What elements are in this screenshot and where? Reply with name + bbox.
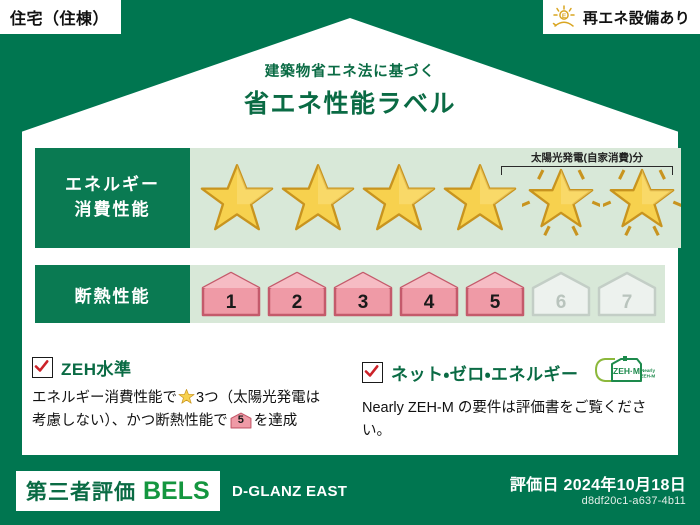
insulation-performance-row: 断熱性能 1 2 3 4 bbox=[35, 265, 665, 323]
zeh-body-part1: エネルギー消費性能で bbox=[32, 390, 177, 406]
energy-consumption-value: 太陽光発電(自家消費)分 bbox=[190, 148, 681, 248]
insulation-level-scale: 1 2 3 4 5 bbox=[190, 271, 658, 317]
checkbox-checked-icon bbox=[32, 357, 53, 378]
title-subtitle: 建築物省エネ法に基づく bbox=[0, 60, 700, 81]
insulation-level-3: 3 bbox=[332, 271, 394, 317]
zeh-m-logo-sub1: Nearly bbox=[641, 368, 655, 373]
star-icon-2 bbox=[279, 159, 357, 237]
net-zero-energy-body: Nearly ZEH-M の要件は評価書をご覧ください。 bbox=[362, 397, 662, 444]
solar-annotation-bracket bbox=[501, 166, 673, 175]
zeh-body-part3: を達成 bbox=[254, 413, 298, 429]
zeh-m-logo-text: ZEH·M bbox=[613, 366, 640, 376]
renewable-equipment-label: 再エネ設備あり bbox=[583, 7, 690, 28]
energy-consumption-row: エネルギー 消費性能 bbox=[35, 148, 665, 248]
energy-label-line1: エネルギー bbox=[65, 173, 160, 198]
insulation-level-4-number: 4 bbox=[398, 292, 460, 314]
bels-jp-label: 第三者評価 bbox=[26, 476, 136, 506]
building-type-label: 住宅（住棟） bbox=[10, 5, 109, 29]
svg-text:E: E bbox=[562, 13, 567, 20]
energy-performance-label: 住宅（住棟） E 再エネ設備あり 建築物省エネ法に基づく 省 bbox=[0, 0, 700, 525]
evaluation-id: d8df20c1-a637-4b11 bbox=[582, 495, 686, 507]
checkbox-checked-icon bbox=[362, 362, 383, 383]
insulation-level-3-number: 3 bbox=[332, 292, 394, 314]
zeh-standard-header: ZEH水準 bbox=[32, 355, 332, 380]
net-zero-energy-title: ネット・ゼロ・エネルギー bbox=[391, 360, 579, 385]
bels-en-label: BELS bbox=[143, 477, 210, 506]
insulation-performance-label: 断熱性能 bbox=[35, 265, 190, 323]
solar-annotation-text: 太陽光発電(自家消費)分 bbox=[501, 150, 673, 165]
insulation-level-2: 2 bbox=[266, 271, 328, 317]
insulation-performance-value: 1 2 3 4 5 bbox=[190, 265, 665, 323]
bels-badge: 第三者評価 BELS bbox=[16, 471, 220, 511]
insulation-level-6-number: 6 bbox=[530, 292, 592, 314]
zeh-standard-body: エネルギー消費性能で3つ（太陽光発電は考慮しない）、かつ断熱性能で5を達成 bbox=[32, 387, 332, 434]
energy-consumption-label: エネルギー 消費性能 bbox=[35, 148, 190, 248]
star-icon-1 bbox=[198, 159, 276, 237]
title-main: 省エネ性能ラベル bbox=[0, 84, 700, 120]
solar-generation-annotation: 太陽光発電(自家消費)分 bbox=[501, 150, 673, 175]
house-icon-inline-number: 5 bbox=[230, 412, 252, 430]
energy-label-line2: 消費性能 bbox=[75, 198, 151, 223]
insulation-label-text: 断熱性能 bbox=[75, 282, 151, 307]
label-title-block: 建築物省エネ法に基づく 省エネ性能ラベル bbox=[0, 60, 700, 120]
insulation-level-7-number: 7 bbox=[596, 292, 658, 314]
sun-renewable-icon: E bbox=[551, 5, 577, 29]
insulation-level-2-number: 2 bbox=[266, 292, 328, 314]
zeh-standard-statement: ZEH水準 エネルギー消費性能で3つ（太陽光発電は考慮しない）、かつ断熱性能で5… bbox=[32, 355, 332, 434]
insulation-level-5: 5 bbox=[464, 271, 526, 317]
insulation-level-1-number: 1 bbox=[200, 292, 262, 314]
insulation-level-5-number: 5 bbox=[464, 292, 526, 314]
insulation-level-6: 6 bbox=[530, 271, 592, 317]
house-icon-inline-level5: 5 bbox=[230, 412, 252, 429]
net-zero-energy-statement: ネット・ゼロ・エネルギー ZEH·M Nearly ZEH-M Nearly Z… bbox=[362, 355, 662, 444]
label-footer: 第三者評価 BELS D-GLANZ EAST 評価日 2024年10月18日 … bbox=[0, 457, 700, 525]
evaluation-date: 評価日 2024年10月18日 bbox=[510, 471, 686, 495]
project-name: D-GLANZ EAST bbox=[232, 483, 347, 500]
zeh-m-logo: ZEH·M Nearly ZEH-M bbox=[593, 355, 657, 390]
star-icon-3 bbox=[360, 159, 438, 237]
net-zero-energy-header: ネット・ゼロ・エネルギー ZEH·M Nearly ZEH-M bbox=[362, 355, 662, 390]
insulation-level-7: 7 bbox=[596, 271, 658, 317]
insulation-level-1: 1 bbox=[200, 271, 262, 317]
building-type-chip: 住宅（住棟） bbox=[0, 0, 121, 34]
star-icon-inline bbox=[178, 388, 195, 405]
zeh-standard-title: ZEH水準 bbox=[61, 355, 132, 380]
zeh-m-logo-sub2: ZEH-M bbox=[640, 374, 655, 379]
renewable-equipment-chip: E 再エネ設備あり bbox=[543, 0, 700, 34]
insulation-level-4: 4 bbox=[398, 271, 460, 317]
